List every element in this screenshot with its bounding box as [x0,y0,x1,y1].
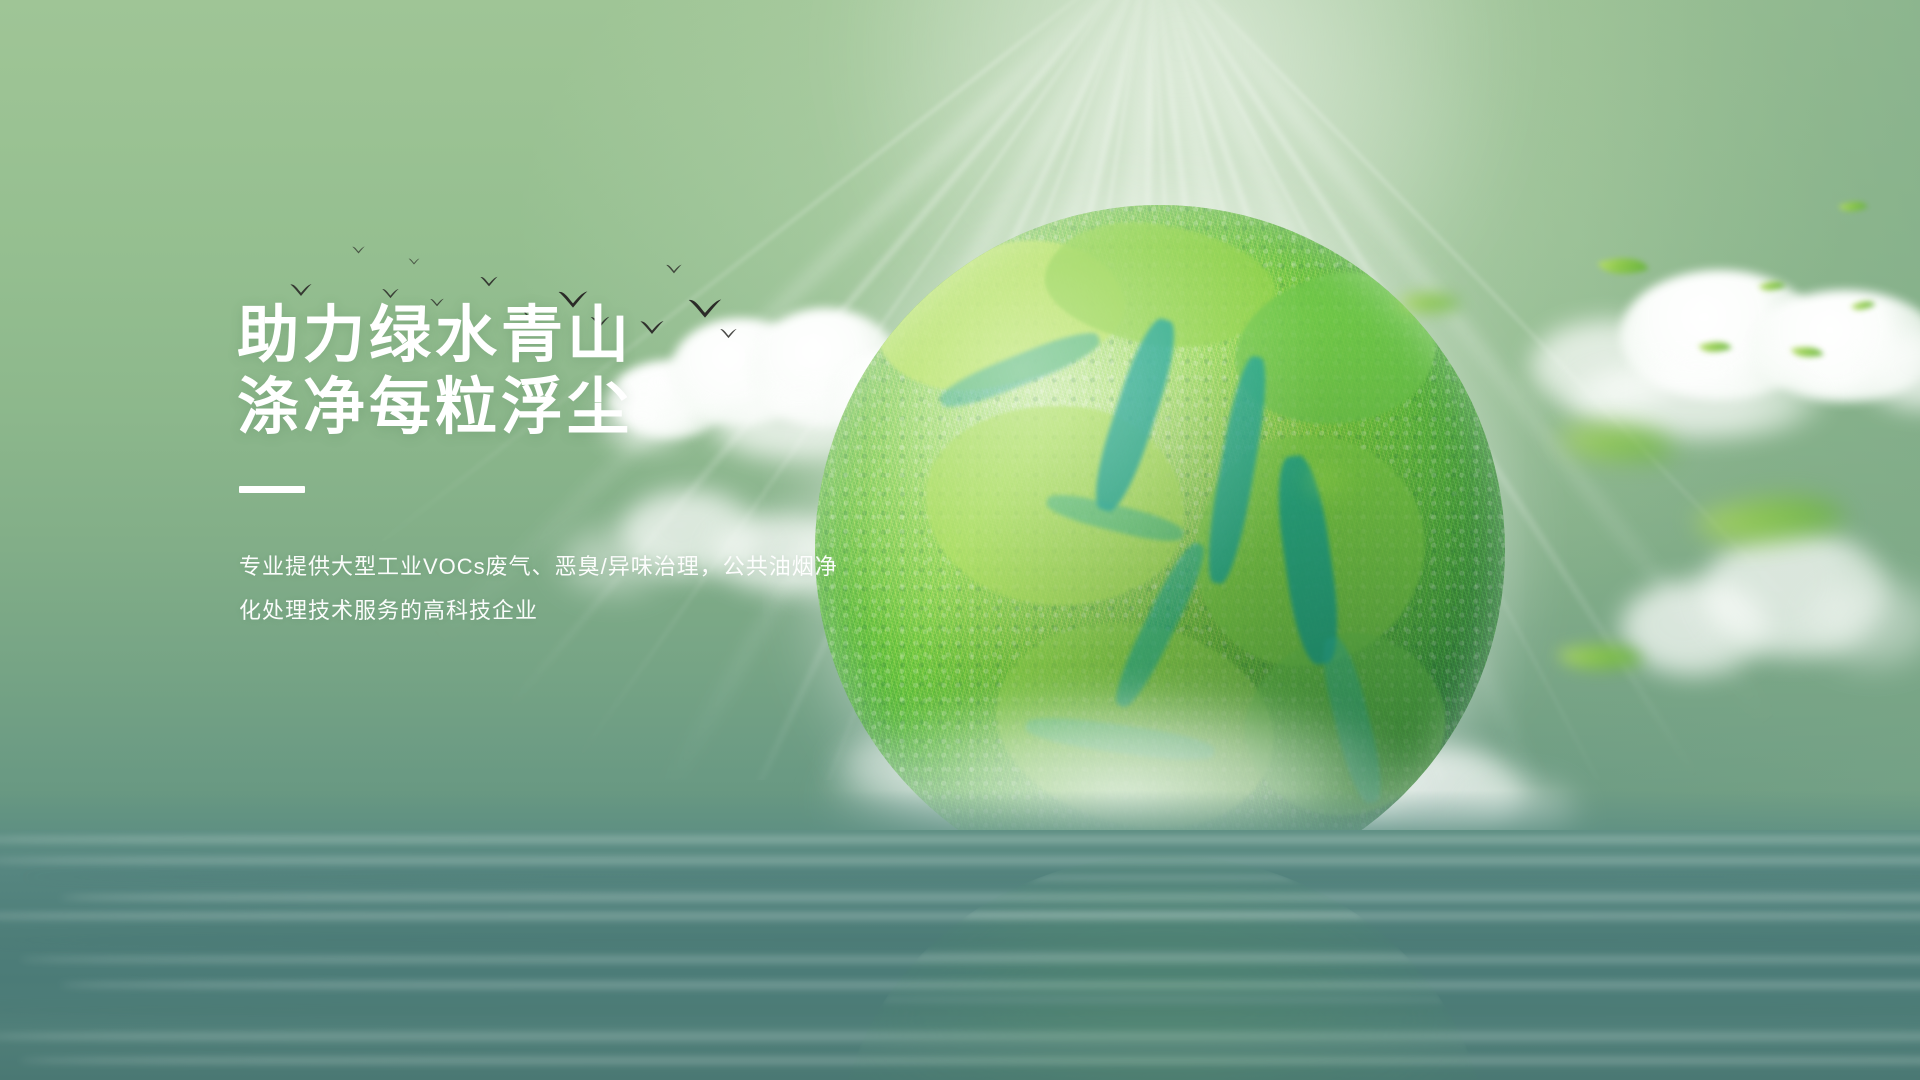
bird-icon [480,276,498,287]
reflection-streak [838,1043,1488,1053]
banner-copy: 助力绿水青山 涤净每粒浮尘 专业提供大型工业VOCs废气、恶臭/异味治理，公共油… [237,300,997,633]
water-ripple [0,856,1920,865]
title-divider [239,486,305,493]
bird-icon [666,264,682,274]
reflection-streak [838,911,1488,918]
water-ripple [0,836,1920,843]
reflection-streak [838,951,1488,959]
banner-stage: 助力绿水青山 涤净每粒浮尘 专业提供大型工业VOCs废气、恶臭/异味治理，公共油… [0,0,1920,1080]
bird-icon [382,288,399,299]
bird-icon [408,258,420,265]
subtitle-line-1: 专业提供大型工业VOCs废气、恶臭/异味治理，公共油烟净 [239,545,997,589]
page-title: 助力绿水青山 涤净每粒浮尘 [237,300,997,444]
headline-line-2: 涤净每粒浮尘 [237,372,997,444]
headline-line-1: 助力绿水青山 [237,300,997,372]
bird-icon [290,283,312,297]
bird-icon [352,246,365,254]
reflection-streak [838,875,1488,881]
banner-subtitle: 专业提供大型工业VOCs废气、恶臭/异味治理，公共油烟净 化处理技术服务的高科技… [239,545,997,633]
subtitle-line-2: 化处理技术服务的高科技企业 [239,589,997,633]
reflection-streak [838,995,1488,1004]
